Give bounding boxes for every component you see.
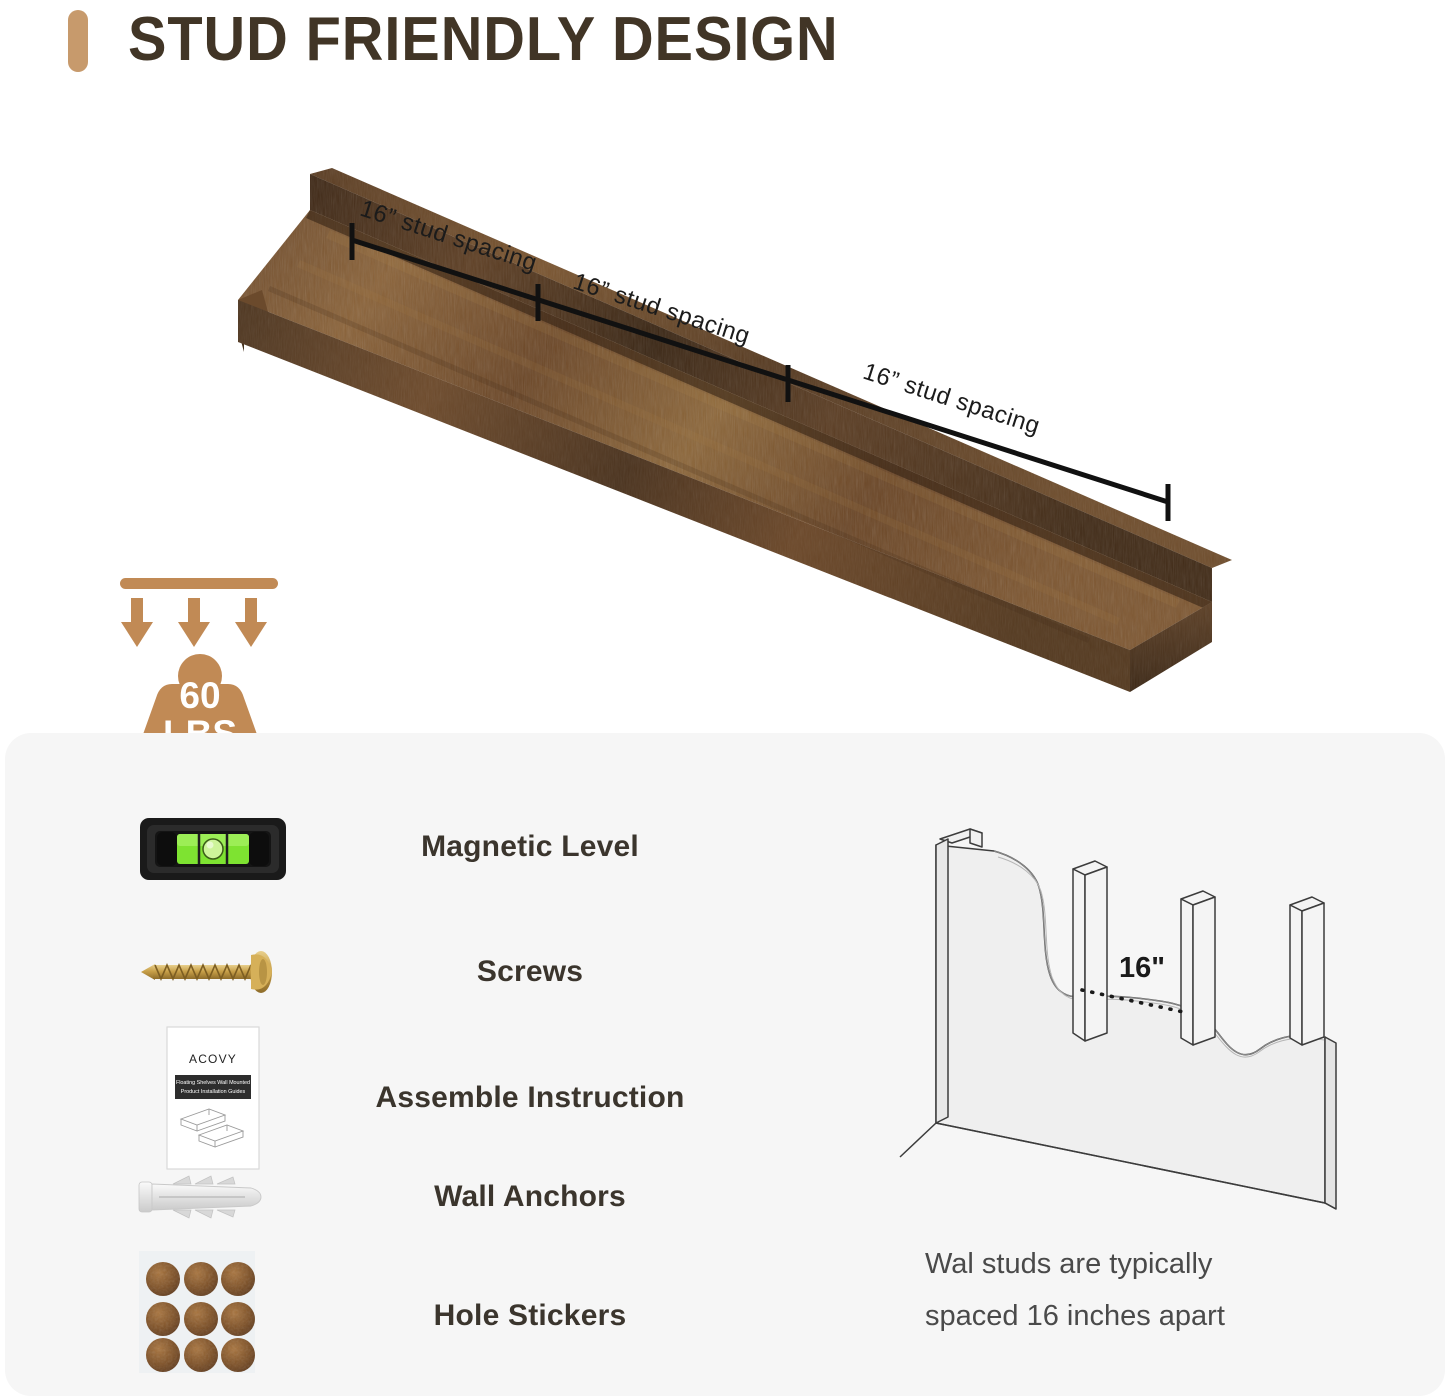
accessory-row-screws: Screws [5, 913, 765, 1031]
hole-stickers-icon [133, 1243, 293, 1388]
stud-wall-diagram: 16" [870, 805, 1350, 1225]
magnetic-level-icon [133, 788, 293, 906]
accessory-label-screws: Screws [305, 913, 755, 1031]
hero-shelf-section: 16” stud spacing 16” stud spacing 16” st… [0, 90, 1445, 710]
accessory-row-hole-stickers: Hole Stickers [5, 1243, 765, 1388]
booklet-banner-line-2: Product Installation Guides [181, 1089, 246, 1095]
screw-icon [133, 913, 293, 1031]
weight-value: 60 [110, 676, 290, 716]
screw-thumb [133, 913, 293, 1031]
wall-anchor-icon [133, 1138, 293, 1256]
weight-bar-icon [120, 578, 278, 589]
stud-spacing-measure-label: 16" [1119, 952, 1165, 984]
accessory-label-magnetic-level: Magnetic Level [305, 788, 755, 906]
stud-caption-line-2: spaced 16 inches apart [925, 1290, 1355, 1342]
title-accent-bar [68, 10, 88, 72]
magnetic-level-thumb [133, 788, 293, 906]
wall-anchor-thumb [133, 1138, 293, 1256]
booklet-banner-line-1: Floating Shelves Wall Mounted [176, 1080, 250, 1086]
load-arrows-icon [118, 598, 282, 654]
page-title: STUD FRIENDLY DESIGN [128, 2, 839, 78]
accessory-row-magnetic-level: Magnetic Level [5, 788, 765, 906]
accessories-panel: Magnetic Level [5, 733, 1445, 1396]
accessory-label-wall-anchors: Wall Anchors [305, 1138, 755, 1256]
infographic-page: STUD FRIENDLY DESIGN [0, 0, 1445, 1396]
hole-stickers-thumb [133, 1243, 293, 1388]
booklet-brand: ACOVY [189, 1052, 237, 1066]
stud-caption-line-1: Wal studs are typically [925, 1238, 1355, 1290]
stud-diagram-caption: Wal studs are typically spaced 16 inches… [925, 1238, 1355, 1342]
accessory-label-hole-stickers: Hole Stickers [305, 1243, 755, 1388]
accessory-row-wall-anchors: Wall Anchors [5, 1138, 765, 1256]
header: STUD FRIENDLY DESIGN [0, 0, 1445, 90]
